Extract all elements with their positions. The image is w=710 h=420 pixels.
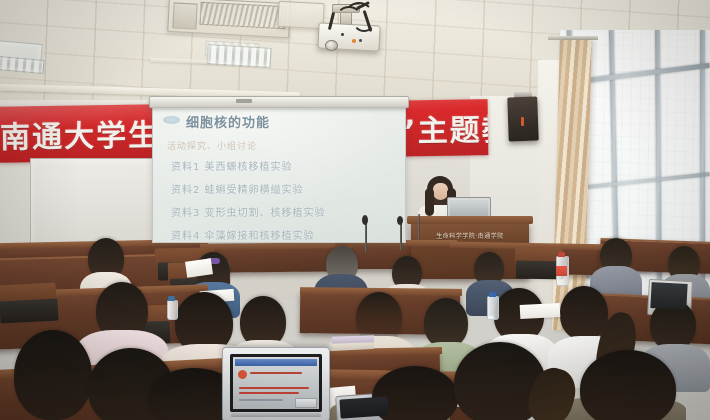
microphone-stand	[365, 222, 367, 252]
bottle-cap	[489, 292, 496, 297]
monitor-screen	[650, 282, 687, 310]
podium-label: 生命科学学院·南通学院	[411, 231, 529, 240]
presenter-face	[433, 183, 448, 200]
presenter-hair-side	[425, 188, 434, 216]
dialog-title-bar	[235, 359, 317, 366]
slide-list-item: 资料2 蛙蝌受精卵横缢实验	[171, 181, 304, 196]
ac-vent	[199, 2, 286, 29]
foreground-laptop[interactable]	[222, 347, 330, 420]
projector-indicator	[341, 33, 344, 36]
speaker-indicator-icon	[521, 117, 524, 126]
slide-list-item: 资料4 伞藻嫁接和核移植实验	[171, 227, 315, 242]
bottle-cap	[558, 252, 565, 257]
dialog-text-line	[239, 399, 283, 401]
dialog-text-line	[250, 372, 302, 374]
dialog-text-line	[239, 392, 299, 394]
microphone-head-icon	[397, 216, 403, 225]
slide-subtitle: 活动探究、小组讨论	[167, 139, 257, 152]
ceiling-light	[206, 44, 271, 68]
slide-logo-icon	[163, 116, 180, 124]
dialog-text-line	[239, 387, 309, 389]
dialog-warning-icon	[238, 370, 247, 379]
microphone-head-icon	[362, 215, 368, 225]
bottle-cap	[168, 296, 175, 301]
projector-indicator	[352, 39, 356, 43]
projector-lens	[325, 40, 338, 51]
laptop-hinge	[231, 413, 321, 417]
laptop-bezel	[230, 354, 322, 412]
slide-list-item: 资料1 美西螈核移植实验	[171, 158, 293, 173]
water-bottle	[487, 296, 499, 320]
microphone-stand	[418, 214, 420, 240]
bottle-label	[556, 266, 567, 276]
slide-list-item: 资料3 变形虫切割、核移植实验	[171, 204, 326, 219]
seat-cushion	[0, 298, 59, 323]
audience-head	[424, 298, 468, 348]
water-bottle	[167, 300, 178, 320]
dialog-ok-button[interactable]	[295, 398, 317, 408]
laptop-screen[interactable]	[233, 357, 319, 409]
lectern: 生命科学学院·南通学院	[411, 221, 529, 279]
projection-screen: 细胞核的功能 活动探究、小组讨论 资料1 美西螈核移植实验 资料2 蛙蝌受精卵横…	[152, 105, 406, 243]
podium-surface	[407, 216, 533, 224]
paper-sheet	[520, 303, 561, 319]
book-stack	[332, 335, 374, 343]
ac-flap	[172, 2, 197, 29]
microphone-stand	[400, 222, 402, 250]
audience-head-foreground	[580, 350, 676, 420]
screen-housing-label	[236, 99, 252, 103]
slide-title: 细胞核的功能	[186, 112, 270, 131]
lecture-hall-photo: 南通大学生命科 使命”主题教育 细胞核的功能 活动探究、小组讨论 资料1 美西螈…	[0, 0, 710, 420]
audience-head-foreground	[14, 330, 92, 420]
tablet-screen	[339, 396, 388, 418]
screen-housing	[149, 96, 409, 108]
projector-indicator	[359, 39, 362, 42]
